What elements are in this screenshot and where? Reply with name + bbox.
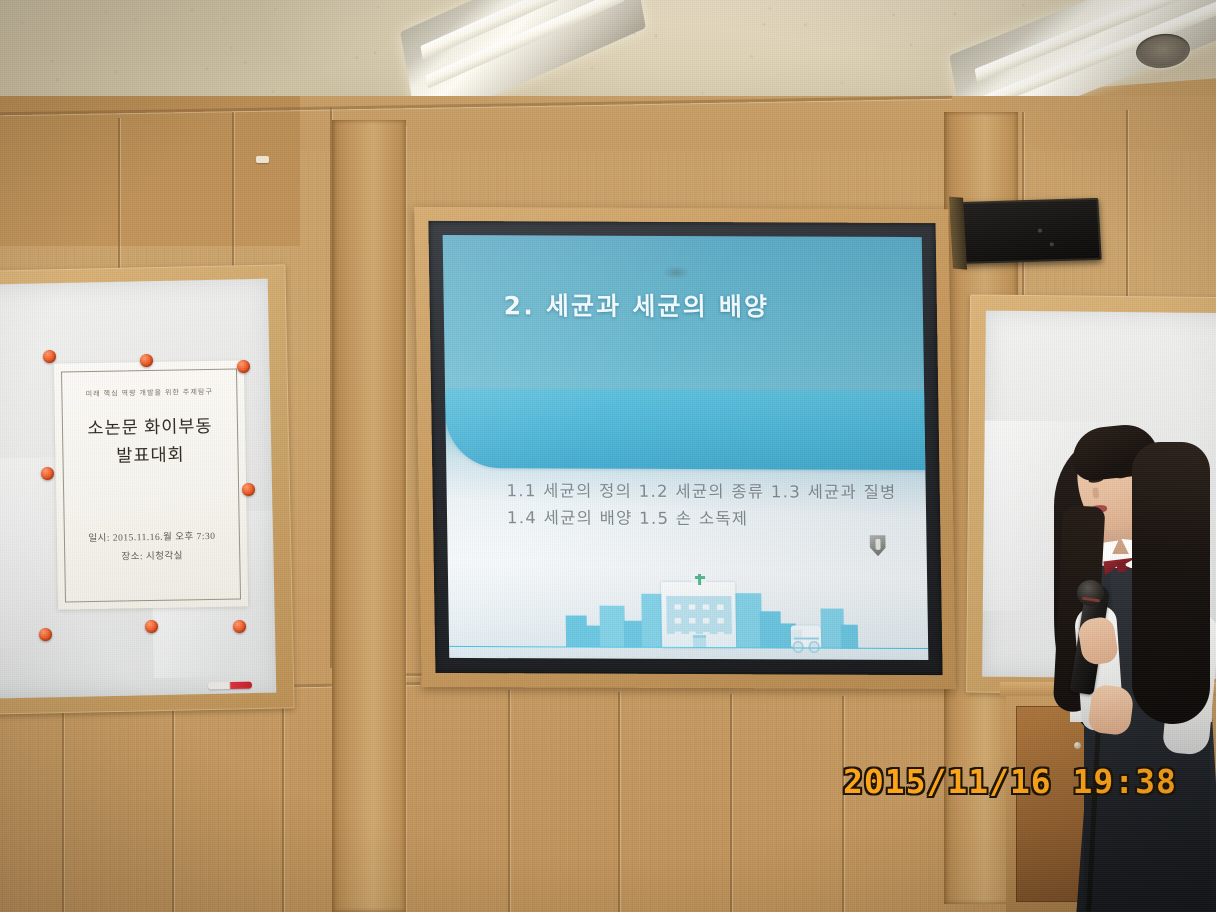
wall-seam	[172, 698, 174, 912]
ambulance-stripe	[794, 637, 819, 639]
wall-seam	[508, 690, 510, 912]
medical-cross-icon	[695, 576, 705, 579]
magnet[interactable]	[39, 628, 52, 641]
magnet[interactable]	[237, 360, 250, 373]
skyline-building	[600, 606, 626, 648]
event-poster: 미래 핵심 역량 개발을 위한 주제탐구 소논문 화이부동 발표대회 일시: 2…	[54, 360, 248, 609]
bowtie-knot	[1116, 561, 1126, 572]
wall-seam	[1126, 110, 1128, 300]
shield-glyph	[875, 539, 880, 550]
screen-bezel: 2. 세균과 세균의 배양 1.1 세균의 정의 1.2 세균의 종류 1.3 …	[428, 221, 942, 675]
wall-seam	[62, 700, 64, 912]
speaker-bracket	[949, 197, 967, 270]
shield-icon	[870, 535, 886, 556]
slide-skyline-graphic	[448, 563, 928, 650]
skyline-building	[734, 593, 763, 649]
skyline-building	[566, 616, 588, 648]
wall-seam	[282, 696, 284, 912]
camera-timestamp: 2015/11/16 19:38	[843, 762, 1177, 801]
photograph: 미래 핵심 역량 개발을 위한 주제탐구 소논문 화이부동 발표대회 일시: 2…	[0, 0, 1216, 912]
wall-upper-left-shadow	[0, 96, 300, 246]
magnet[interactable]	[145, 620, 158, 633]
wall-seam	[618, 692, 620, 912]
magnet[interactable]	[242, 483, 255, 496]
poster-title-2: 발표대회	[55, 440, 245, 468]
magnet[interactable]	[140, 354, 153, 367]
poster-title-1: 소논문 화이부동	[55, 412, 245, 440]
wall-seam	[730, 694, 732, 912]
presenter-hair-side	[1132, 442, 1210, 724]
screen-smudge	[663, 266, 689, 279]
skyline-building	[586, 626, 602, 648]
slide-title: 2. 세균과 세균의 배양	[503, 286, 769, 323]
speaker-driver-dot	[1037, 228, 1041, 232]
wall-speaker	[956, 198, 1101, 264]
skyline-building	[624, 620, 644, 648]
wall-pillar-left	[332, 120, 406, 912]
presenter	[1036, 418, 1216, 912]
magnet[interactable]	[41, 467, 54, 480]
poster-inner-border	[61, 368, 241, 602]
nose	[1092, 487, 1099, 498]
slide-subtitle-line-2: 1.4 세균의 배양 1.5 손 소독제	[507, 504, 749, 529]
ambulance-icon	[791, 625, 821, 647]
projection-screen: 2. 세균과 세균의 배양 1.1 세균의 정의 1.2 세균의 종류 1.3 …	[414, 207, 956, 689]
wall-seam	[842, 696, 844, 912]
slide-title-band	[445, 389, 925, 469]
hospital-windows	[666, 596, 732, 635]
skyline-building	[841, 625, 858, 650]
presentation-slide: 2. 세균과 세균의 배양 1.1 세균의 정의 1.2 세균의 종류 1.3 …	[443, 235, 929, 660]
magnet[interactable]	[233, 620, 246, 633]
slide-subtitle-line-1: 1.1 세균의 정의 1.2 세균의 종류 1.3 세균과 질병	[506, 477, 896, 503]
speaker-driver-dot	[1050, 243, 1054, 247]
panel-clip	[256, 156, 269, 163]
hospital-building	[661, 582, 736, 648]
red-marker[interactable]	[208, 682, 252, 690]
presenter-hand-lower	[1087, 684, 1135, 737]
magnet[interactable]	[43, 350, 56, 363]
